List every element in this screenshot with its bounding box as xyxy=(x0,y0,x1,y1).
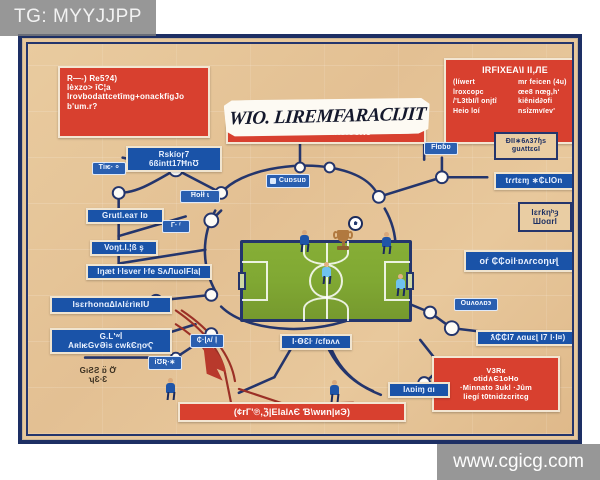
node-region[interactable]: Rskíoŗ7 6ßintt17ĦnƱ xyxy=(126,146,222,172)
outline-perkins[interactable]: lɛrƙƞʰȝ Шoɑrl xyxy=(518,202,572,232)
infographic-poster: R—-) Re5?4) lèxzo> îC¦a lrovbodattcetîmg… xyxy=(18,34,582,444)
callout-top-right-title: IRFIXEA\I II,ЛE xyxy=(453,65,574,75)
player-body xyxy=(166,383,175,393)
poster-inner-frame: R—-) Re5?4) lèxzo> îC¦a lrovbodattcetîmg… xyxy=(26,42,574,436)
page-title: WIO. LIREMFARACIJIT xyxy=(228,104,426,131)
poster-title-banner: WIO. LIREMFARACIJIT xyxy=(224,95,431,138)
node-iaoirn[interactable]: Iʌɒiɱ ɑı xyxy=(388,382,450,398)
node-left-wide[interactable]: lsɛrhonɑ∆lʌlɛ́rìʀIU xyxy=(50,296,172,314)
screenshot-root: R—-) Re5?4) lèxzo> îC¦a lrovbodattcetîmg… xyxy=(0,0,600,480)
tag-holt[interactable]: Ħoƚł ɩ xyxy=(180,190,220,203)
callout-right-lower[interactable]: V3Rк otid∧Є1oHo ·Minnato 3ukl ·Jûm liegí… xyxy=(432,356,560,412)
tag-onnovat[interactable]: Ouʌoʌɒ϶ xyxy=(454,298,498,311)
tg-watermark: TG: MYYJJPP xyxy=(0,0,156,36)
player-legs xyxy=(166,392,175,400)
player-head xyxy=(332,380,337,385)
square-marker-icon xyxy=(270,178,276,184)
trophy-icon xyxy=(334,226,352,252)
pitch-goal-left xyxy=(238,272,246,290)
player-head xyxy=(384,232,389,237)
player-body xyxy=(330,385,339,395)
callout-top-left[interactable]: R—-) Re5?4) lèxzo> îC¦a lrovbodattcetîmg… xyxy=(58,66,210,138)
callout-top-right-col-right: mr feicen (4u) œe8 nœg,hʻ kiênid∂ofi nsî… xyxy=(518,78,574,137)
node-coordination[interactable]: oŕ ₵₵oiŀɒʌɾcoŋưɭ xyxy=(464,250,574,272)
node-position[interactable]: Grutl.eaт lɒ xyxy=(86,208,164,224)
node-world[interactable]: Voŋt.l.¦ß ş xyxy=(90,240,158,256)
player-head xyxy=(168,378,173,383)
tag-rr[interactable]: Г⸱ ʳ xyxy=(162,220,190,233)
tag-iart[interactable]: iƱƦ⸱∗ xyxy=(148,356,182,370)
callout-top-right-col-left: (líwert lroxcopc /'L3tbI/l onjtî Heio lo… xyxy=(453,78,512,137)
soccer-pitch xyxy=(240,240,412,322)
player-bottom xyxy=(328,380,341,402)
callout-bottom-bar[interactable]: (¢rГ'℗,ℨ|ЕIalʌЄ Ɓ\wиn|иЭ) xyxy=(178,402,406,422)
node-accuracy[interactable]: ƛ₵₵I7 ʌɑuɛɭ I7 I·I¤) xyxy=(476,330,574,346)
node-left-two[interactable]: G.L'ʷİ AʀIѥGѵƏìs cwƙЄƞơҀ xyxy=(50,328,172,354)
player-bottom-left xyxy=(164,378,177,400)
tag-cr[interactable]: ₵·ɭʌ/ ļ xyxy=(190,334,224,348)
plain-bottom-left: GıƧƧ ɒ̈ Ơ̈ ʮƐ⸱Ɛ xyxy=(56,362,140,388)
trophy-base xyxy=(337,246,349,250)
pitch-goal-right xyxy=(406,272,414,290)
tag-cudsud-label: Cuɒsuɒ xyxy=(279,177,306,185)
tag-cudsud[interactable]: Cuɒsuɒ xyxy=(266,174,310,188)
player-head xyxy=(302,230,307,235)
pitch-center-circle xyxy=(309,264,343,298)
node-pitch-label[interactable]: I·ѲƐŀ /cfɒʌʌ xyxy=(280,334,352,350)
tag-tie[interactable]: Tiѥ⸱ ⸰ xyxy=(92,162,126,175)
outline-district[interactable]: ƉIƖ∗6ʌ37ɧs ǥuʌttɛɢƖ xyxy=(494,132,558,160)
site-watermark: www.cgicg.com xyxy=(437,444,600,480)
node-total-action[interactable]: tɾɾtɛɱ ∗₵ʟIOn xyxy=(494,172,574,190)
pitch-arc-bottom xyxy=(303,297,349,321)
tag-flow[interactable]: Fƚɒɓʋ xyxy=(424,142,458,155)
soccer-ball-icon xyxy=(348,216,363,231)
player-legs xyxy=(330,394,339,402)
node-longline[interactable]: Iŋæt ŀIsver ŀfe ЅʌЛuolFlaļ xyxy=(86,264,212,280)
